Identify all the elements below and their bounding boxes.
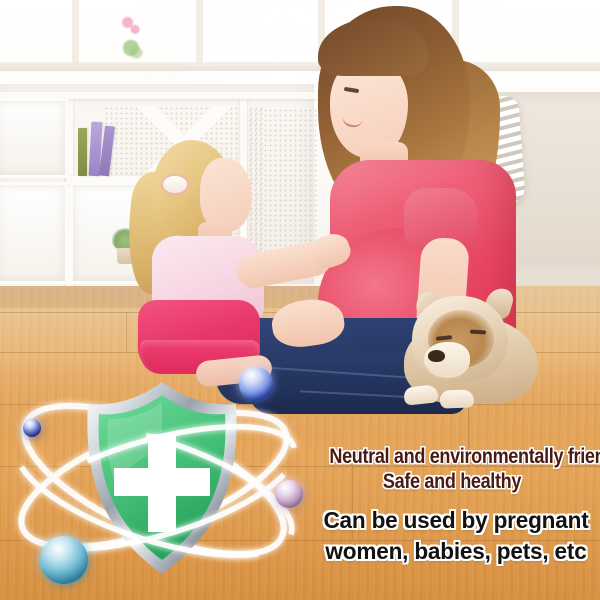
electron-right-pink (275, 480, 303, 508)
floor-plank-seam (126, 312, 127, 352)
product-banner: Neutral and environmentally friendly Saf… (0, 0, 600, 600)
audience-claim: Can be used by pregnant women, babies, p… (312, 505, 600, 567)
atom-shield-safety-badge (2, 362, 322, 600)
puppy-paw-right (440, 389, 475, 408)
book-green (78, 128, 87, 176)
subline-line-2: women, babies, pets, etc (318, 536, 594, 567)
puppy-paw-left (403, 384, 439, 405)
electron-bottom-left-large (40, 536, 88, 584)
headline-line-1: Neutral and environmentally friendly (329, 444, 574, 469)
window-mullion (72, 0, 79, 64)
puppy-nose (428, 350, 445, 362)
headline-line-2: Safe and healthy (329, 469, 574, 494)
subline-line-1: Can be used by pregnant (318, 505, 594, 536)
eco-safety-headline: Neutral and environmentally friendly Saf… (306, 444, 598, 494)
girl-face (200, 158, 252, 232)
hanging-flower (114, 12, 148, 70)
electron-top-right (239, 367, 273, 401)
electron-left-small (23, 419, 41, 437)
window-frame (0, 62, 600, 71)
shelf-cell (0, 182, 68, 284)
window-mullion (196, 0, 203, 64)
girl-hair-tie (163, 176, 187, 193)
shelf-cell (0, 98, 68, 178)
